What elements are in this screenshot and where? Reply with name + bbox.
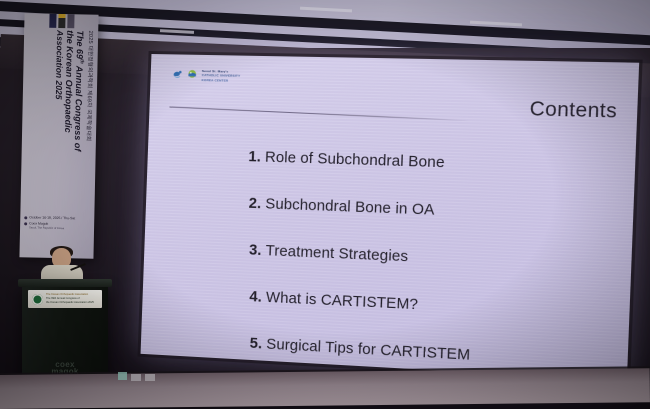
floor-object	[145, 374, 155, 381]
banner-en-3: the Korean Orthopaedic	[63, 30, 75, 133]
screen-frame	[137, 51, 642, 384]
plate-line-2: The 69th Annual Congress of	[46, 297, 80, 300]
association-emblem-icon	[32, 294, 43, 305]
ceiling-light	[300, 7, 352, 13]
projection-screen: Seoul St. Mary's CATHOLIC UNIVERSITY KOR…	[141, 54, 640, 381]
podium-top	[18, 279, 112, 287]
congress-banner: 2025 대한정형외과학회 제69차 국제학술대회 The 69th Annua…	[19, 13, 98, 258]
banner-en-1: The 69	[75, 30, 86, 59]
conference-photo: Seoul St. Mary's CATHOLIC UNIVERSITY KOR…	[0, 0, 650, 409]
plate-line-1: The Korean Orthopaedic Association	[46, 293, 88, 296]
banner-en-2: Annual Congress of	[73, 64, 85, 152]
floor-object	[131, 374, 141, 381]
plate-line-3: the Korean Orthopaedic Association 2025	[46, 301, 94, 304]
podium-plate: The Korean Orthopaedic Association The 6…	[28, 290, 102, 308]
podium-plate-text: The Korean Orthopaedic Association The 6…	[46, 293, 94, 305]
floor-object	[118, 372, 127, 380]
stage-floor	[0, 368, 650, 409]
location-pin-icon	[24, 222, 27, 225]
banner-info: October 16-18, 2025 / Thu-Sat Coex Magok…	[24, 215, 90, 233]
calendar-icon	[24, 217, 27, 220]
